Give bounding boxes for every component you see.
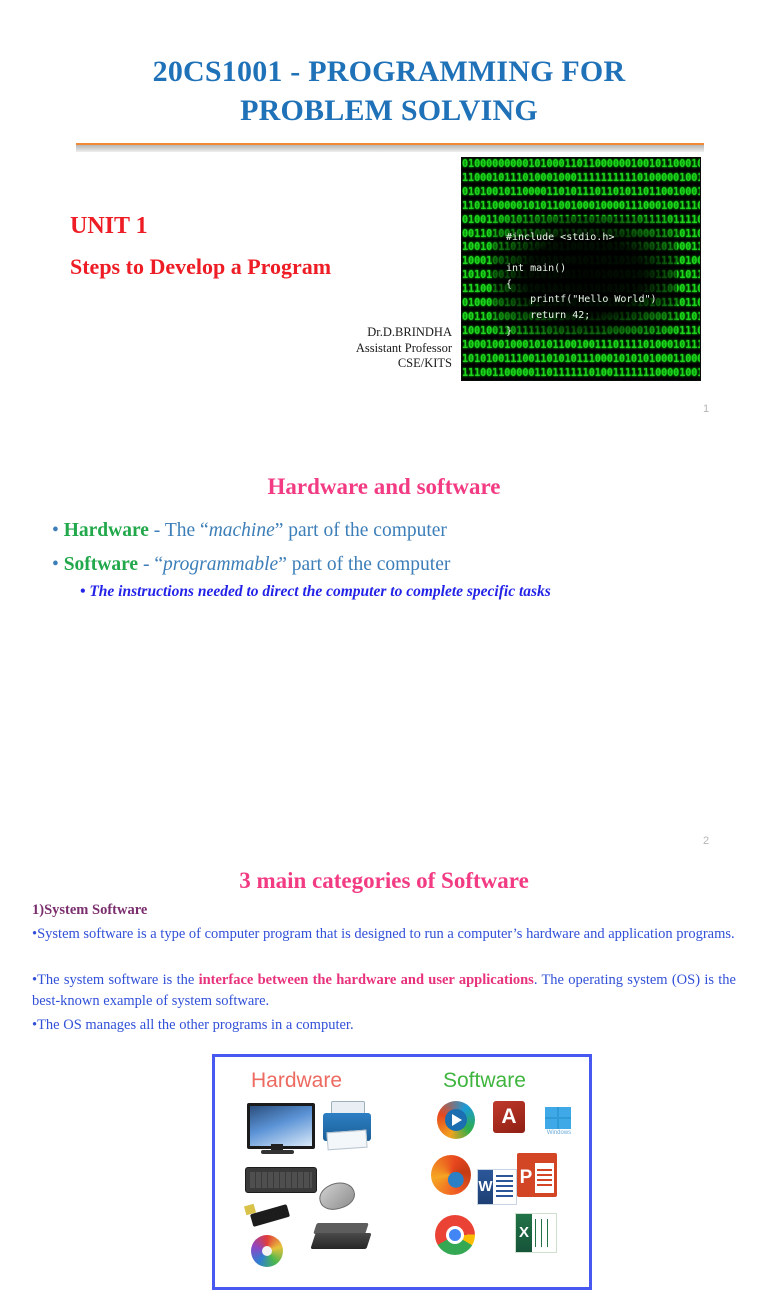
section-heading-hardware-software: Hardware and software	[0, 474, 768, 500]
paragraph-2-text-a: The system software is the	[37, 972, 199, 988]
windows-logo-label: Windows	[541, 1130, 577, 1136]
bullet-software-emphasis: programmable	[163, 554, 278, 575]
figure-hardware-caption: Hardware	[251, 1069, 342, 1093]
adobe-acrobat-pdf-icon: A	[493, 1101, 525, 1133]
powerpoint-lines	[537, 1169, 552, 1187]
bullet-software-keyword: Software	[64, 554, 138, 575]
page-title: 20CS1001 - PROGRAMMING FOR PROBLEM SOLVI…	[84, 52, 694, 130]
keyboard-icon	[245, 1167, 317, 1193]
mouse-icon	[316, 1179, 358, 1214]
compact-disc-icon	[251, 1235, 283, 1267]
bullet-software: • Software - “programmable” part of the …	[52, 552, 450, 578]
author-name: Dr.D.BRINDHA	[300, 325, 452, 341]
bullet-hardware-pre: The “	[165, 520, 209, 541]
binary-matrix-image: 0100000000010100011011000000100101100010…	[462, 158, 700, 380]
monitor-icon	[247, 1103, 315, 1149]
scanner-icon	[310, 1233, 371, 1249]
bullet-hardware-keyword: Hardware	[64, 520, 149, 541]
google-chrome-icon	[435, 1215, 475, 1255]
monitor-base-icon	[261, 1150, 294, 1154]
author-credits: Dr.D.BRINDHA Assistant Professor CSE/KIT…	[300, 325, 452, 372]
bullet-software-sep: -	[138, 554, 154, 575]
bullet-hardware: • Hardware - The “machine” part of the c…	[52, 518, 447, 544]
bullet-dot: •	[52, 520, 59, 541]
page-number-1: 1	[703, 403, 709, 415]
subsection-title-system-software: 1)System Software	[32, 902, 147, 919]
paragraph-3-text: The OS manages all the other programs in…	[37, 1017, 354, 1033]
microsoft-excel-icon: X	[515, 1213, 557, 1253]
paragraph-3: •The OS manages all the other programs i…	[32, 1015, 736, 1036]
microsoft-word-icon: W	[477, 1169, 517, 1205]
windows-logo-icon	[545, 1107, 571, 1129]
document-page: 20CS1001 - PROGRAMMING FOR PROBLEM SOLVI…	[0, 0, 768, 1024]
windows-media-player-icon	[437, 1101, 475, 1139]
paragraph-1-text: System software is a type of computer pr…	[37, 926, 735, 942]
powerpoint-letter: P	[517, 1161, 535, 1195]
title-divider-shadow	[76, 145, 704, 152]
unit-label: UNIT 1	[70, 212, 148, 240]
usb-flash-drive-icon	[250, 1204, 290, 1227]
author-department: CSE/KITS	[300, 356, 452, 372]
bullet-hardware-post: ” part of the computer	[275, 520, 447, 541]
slide-1-title: 20CS1001 - PROGRAMMING FOR PROBLEM SOLVI…	[0, 0, 768, 430]
section-heading-categories: 3 main categories of Software	[0, 868, 768, 894]
hardware-software-figure: Hardware Software A Windows W	[212, 1054, 592, 1290]
paragraph-2: •The system software is the interface be…	[32, 970, 736, 1012]
word-lines	[496, 1175, 513, 1199]
paragraph-2-highlight: interface between the hardware and user …	[199, 972, 534, 988]
sub-bullet-instructions: • The instructions needed to direct the …	[80, 582, 551, 602]
excel-grid	[535, 1219, 553, 1247]
bullet-software-pre: “	[154, 554, 163, 575]
slide-3-system-software: 3 main categories of Software 1)System S…	[0, 860, 768, 1024]
bullet-dot: •	[52, 554, 59, 575]
bullet-hardware-sep: -	[149, 520, 165, 541]
author-designation: Assistant Professor	[300, 341, 452, 357]
page-title-line-1: 20CS1001 - PROGRAMMING FOR	[84, 52, 694, 91]
slide-2-hardware-software: Hardware and software • Hardware - The “…	[0, 430, 768, 860]
microsoft-powerpoint-icon: P	[517, 1153, 557, 1197]
word-letter: W	[478, 1170, 493, 1204]
paragraph-1: •System software is a type of computer p…	[32, 924, 736, 945]
mozilla-firefox-icon	[431, 1155, 471, 1195]
bullet-hardware-emphasis: machine	[209, 520, 275, 541]
page-title-line-2: PROBLEM SOLVING	[84, 91, 694, 130]
page-number-2: 2	[703, 835, 709, 847]
excel-letter: X	[516, 1214, 532, 1252]
c-code-overlay: #include <stdio.h> int main() { printf("…	[506, 230, 657, 339]
bullet-software-post: ” part of the computer	[278, 554, 450, 575]
printer-output-icon	[326, 1130, 367, 1151]
figure-software-caption: Software	[443, 1069, 526, 1093]
sub-bullet-text: The instructions needed to direct the co…	[89, 583, 551, 600]
sub-bullet-dot: •	[80, 583, 89, 600]
unit-subtitle: Steps to Develop a Program	[70, 253, 331, 281]
